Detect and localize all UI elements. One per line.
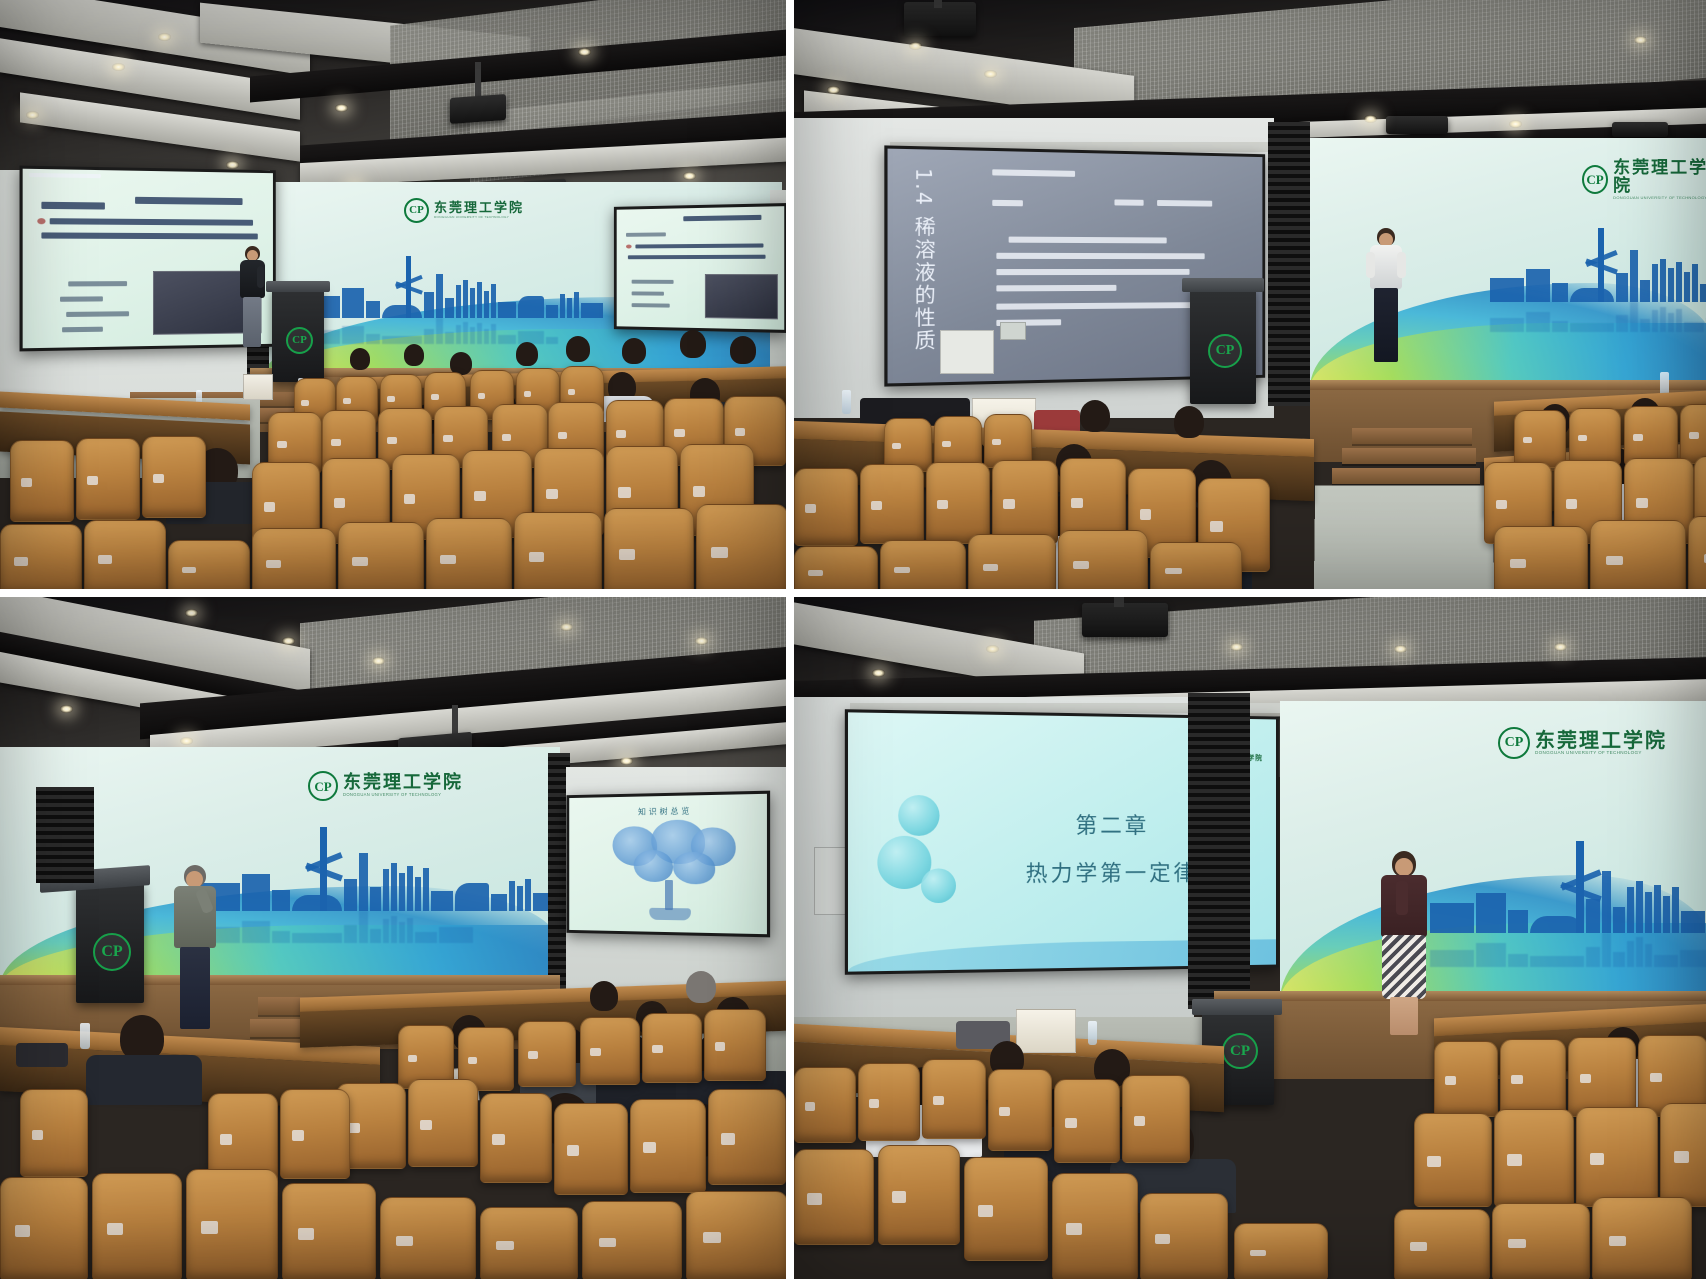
- presenter-legs: [243, 297, 261, 347]
- stage-column: [1188, 693, 1250, 1009]
- podium-seal-icon: CP: [286, 327, 313, 354]
- audience-shoulders: [86, 1055, 202, 1105]
- auditorium-seat: [1500, 1039, 1566, 1117]
- slide-vertical-title: 1.4 稀溶液的性质: [909, 168, 940, 352]
- audience-head: [622, 338, 646, 364]
- auditorium-seat: [514, 512, 602, 589]
- audience-head: [350, 348, 370, 370]
- wall-university-logo: CP 东莞理工学院 DONGGUAN UNIVERSITY OF TECHNOL…: [404, 198, 524, 223]
- university-name-en: DONGGUAN UNIVERSITY OF TECHNOLOGY: [1535, 751, 1667, 756]
- audience-head: [516, 342, 538, 366]
- ceiling-downlight: [60, 705, 73, 713]
- wall-university-logo: CP 东莞理工学院 DONGGUAN UNIVERSITY OF TECHNOL…: [1582, 160, 1706, 200]
- auditorium-seat: [858, 1063, 920, 1141]
- university-name-en: DONGGUAN UNIVERSITY OF TECHNOLOGY: [1613, 196, 1706, 200]
- auditorium-seat: [1122, 1075, 1190, 1163]
- stage-edge: [1214, 991, 1706, 1001]
- ceiling-downlight: [695, 637, 708, 645]
- auditorium-seat: [282, 1183, 376, 1279]
- auditorium-seat: [1592, 1197, 1692, 1279]
- auditorium-seat: [84, 520, 166, 589]
- auditorium-seat: [1514, 410, 1566, 468]
- auditorium-seat: [794, 546, 878, 589]
- water-bottle: [1088, 1021, 1097, 1045]
- water-bottle: [842, 390, 851, 414]
- water-bottle: [80, 1023, 90, 1049]
- auditorium-seat: [922, 1059, 986, 1139]
- auditorium-seat: [518, 1021, 576, 1087]
- auditorium-seat: [988, 1069, 1052, 1151]
- stage-step: [1342, 448, 1476, 464]
- ceiling-downlight: [226, 161, 239, 169]
- podium: CP: [76, 883, 144, 1003]
- presenter-legs: [180, 947, 210, 1029]
- auditorium-seat: [426, 518, 512, 589]
- table-box: [1016, 1009, 1076, 1053]
- university-seal-icon: CP: [308, 771, 338, 801]
- auditorium-seat: [480, 1093, 552, 1183]
- audience-head: [730, 336, 756, 364]
- ceiling-downlight: [180, 737, 193, 745]
- slide-diagram: [705, 274, 778, 319]
- auditorium-seat: [1054, 1079, 1120, 1163]
- auditorium-seat: [408, 1079, 478, 1167]
- mural-skyline: [200, 853, 559, 911]
- wall-university-logo: CP 东莞理工学院 DONGGUAN UNIVERSITY OF TECHNOL…: [1498, 727, 1667, 759]
- auditorium-seat: [1660, 1103, 1706, 1207]
- podium-seal-icon: CP: [93, 933, 131, 971]
- stage-step: [1332, 468, 1480, 484]
- auditorium-seat: [1052, 1173, 1138, 1279]
- university-seal-icon: CP: [1498, 727, 1530, 759]
- slide-tree-base: [649, 908, 691, 921]
- auditorium-seat: [880, 540, 966, 589]
- photo-bottom-left: CP 东莞理工学院 DONGGUAN UNIVERSITY OF TECHNOL…: [0, 597, 786, 1279]
- ceiling-downlight: [1364, 115, 1377, 123]
- auditorium-seat: [582, 1201, 682, 1279]
- auditorium-seat: [1140, 1193, 1228, 1279]
- mural-skyline-reflection: [200, 911, 473, 943]
- auditorium-seat: [338, 522, 424, 589]
- audience-head: [566, 336, 590, 362]
- auditorium-seat: [696, 504, 786, 589]
- auditorium-seat: [926, 462, 990, 544]
- collage-gutter-horizontal: [0, 589, 1706, 597]
- photo-bottom-right: 第二章 热力学第一定律 CP 东莞理工学院 CP 东莞理工学院: [794, 597, 1706, 1279]
- side-projection-screen: [614, 203, 786, 333]
- ceiling-projector: [1386, 116, 1448, 134]
- ceiling-downlight: [26, 111, 39, 119]
- ceiling-downlight: [909, 42, 922, 50]
- ceiling-downlight: [578, 48, 591, 56]
- auditorium-seat: [580, 1017, 640, 1085]
- auditorium-seat: [1680, 404, 1706, 464]
- presenter: [1376, 851, 1432, 1037]
- projector-mount: [934, 0, 942, 8]
- ceiling-downlight: [185, 609, 198, 617]
- auditorium-seat: [480, 1207, 578, 1279]
- auditorium-seat: [168, 540, 250, 589]
- auditorium-seat: [1569, 408, 1621, 466]
- ceiling-downlight: [683, 172, 696, 180]
- side-projection-screen: 知识树总览: [566, 791, 770, 938]
- auditorium-seat: [968, 534, 1056, 589]
- ceiling-downlight: [620, 757, 633, 765]
- auditorium-seat: [0, 1177, 88, 1279]
- auditorium-seat: [642, 1013, 702, 1083]
- auditorium-seat: [992, 460, 1058, 544]
- ceiling-downlight: [1554, 643, 1567, 651]
- slide-tree-trunk: [665, 880, 673, 910]
- auditorium-seat: [380, 1197, 476, 1279]
- auditorium-seat: [1688, 516, 1706, 589]
- auditorium-seat: [1434, 1041, 1498, 1117]
- auditorium-seat: [686, 1191, 786, 1279]
- ceiling-downlight: [158, 33, 171, 41]
- audience-head: [686, 971, 716, 1003]
- ceiling-downlight: [1634, 36, 1647, 44]
- audience-head: [1080, 400, 1110, 432]
- auditorium-seat: [186, 1169, 278, 1279]
- audience-head: [680, 330, 706, 358]
- photo-collage: CP 东莞理工学院 DONGGUAN UNIVERSITY OF TECHNOL…: [0, 0, 1706, 1279]
- wall-panel: [940, 330, 994, 374]
- ceiling-downlight: [560, 623, 573, 631]
- ceiling-downlight: [335, 104, 348, 112]
- presenter-arm-microphone: [1396, 881, 1408, 915]
- presenter-arm: [1366, 252, 1375, 278]
- ceiling-downlight: [986, 645, 999, 653]
- auditorium-seat: [1494, 526, 1588, 589]
- presenter-legs: [1390, 997, 1418, 1035]
- handbag: [16, 1043, 68, 1067]
- mural-skyline: [310, 274, 603, 318]
- university-name-en: DONGGUAN UNIVERSITY OF TECHNOLOGY: [343, 793, 463, 797]
- university-name-en: DONGGUAN UNIVERSITY OF TECHNOLOGY: [434, 216, 524, 219]
- auditorium-seat: [708, 1089, 786, 1185]
- auditorium-seat: [704, 1009, 766, 1081]
- auditorium-seat: [280, 1089, 350, 1179]
- auditorium-seat: [1568, 1037, 1636, 1117]
- wall-sign: [1000, 322, 1026, 340]
- auditorium-seat: [794, 1067, 856, 1143]
- podium-top: [266, 281, 330, 292]
- ceiling-downlight: [984, 70, 997, 78]
- auditorium-seat: [794, 468, 858, 546]
- university-seal-icon: CP: [404, 198, 429, 223]
- stage-mural: CP 东莞理工学院 DONGGUAN UNIVERSITY OF TECHNOL…: [1280, 701, 1706, 1001]
- auditorium-seat: [604, 508, 694, 589]
- collage-gutter-vertical: [786, 0, 794, 1279]
- audience-head: [1174, 406, 1204, 438]
- university-seal-icon: CP: [1582, 165, 1608, 194]
- stage-edge: [1310, 380, 1706, 390]
- presenter-arm: [257, 266, 264, 288]
- stage-step: [1352, 428, 1472, 444]
- ceiling-downlight: [1394, 645, 1407, 653]
- ceiling-downlight: [872, 669, 885, 677]
- podium: CP: [272, 287, 324, 382]
- podium-seal-icon: CP: [1208, 334, 1242, 368]
- slide-molecule-graphic: [921, 868, 956, 903]
- ceiling-downlight: [1230, 643, 1243, 651]
- presenter-legs: [1374, 288, 1398, 362]
- auditorium-seat: [1492, 1203, 1590, 1279]
- ceiling-projector: [1082, 603, 1168, 637]
- auditorium-seat: [1414, 1113, 1492, 1207]
- auditorium-seat: [252, 528, 336, 589]
- auditorium-seat: [554, 1103, 628, 1195]
- auditorium-seat: [1234, 1223, 1328, 1279]
- university-name-cn: 东莞理工学院: [1613, 160, 1706, 196]
- center-aisle: [1313, 485, 1495, 589]
- projector-mount: [1114, 597, 1124, 607]
- photo-top-left: CP 东莞理工学院 DONGGUAN UNIVERSITY OF TECHNOL…: [0, 0, 786, 589]
- ceiling-projector: [1612, 122, 1668, 137]
- auditorium-seat: [76, 438, 140, 520]
- table-box: [243, 374, 273, 400]
- podium-top: [1182, 278, 1264, 292]
- auditorium-seat: [1576, 1107, 1658, 1207]
- auditorium-seat: [1150, 542, 1242, 589]
- auditorium-seat: [878, 1145, 960, 1245]
- ceiling-projector: [450, 94, 506, 124]
- podium-top: [1192, 999, 1282, 1015]
- slide-molecule-graphic: [898, 795, 939, 836]
- presenter-arm: [1397, 252, 1406, 278]
- auditorium-seat: [92, 1173, 182, 1279]
- mural-skyline: [1430, 871, 1706, 933]
- projector-mount: [475, 62, 481, 100]
- stage-column: [1268, 122, 1310, 406]
- auditorium-seat: [1624, 406, 1678, 466]
- podium-seal-icon: CP: [1222, 1033, 1258, 1069]
- auditorium-seat: [1590, 520, 1686, 589]
- wall-university-logo: CP 东莞理工学院 DONGGUAN UNIVERSITY OF TECHNOL…: [308, 771, 463, 801]
- university-name-cn: 东莞理工学院: [1535, 730, 1667, 751]
- podium-backdrop-column: [36, 787, 94, 883]
- auditorium-seat: [10, 440, 74, 522]
- mural-skyline-reflection: [1430, 933, 1706, 967]
- audience-head: [590, 981, 618, 1011]
- mural-skyline-reflection: [310, 318, 558, 344]
- slide-tree-diagram: [634, 850, 673, 882]
- presenter: [237, 246, 267, 356]
- slide-title: 知识树总览: [569, 804, 767, 818]
- ceiling-downlight: [372, 657, 385, 665]
- auditorium-seat: [964, 1157, 1048, 1261]
- photo-top-right: 1.4 稀溶液的性质 CP: [794, 0, 1706, 589]
- auditorium-seat: [20, 1089, 88, 1177]
- presenter-torso: [174, 886, 216, 948]
- presenter-skirt: [1382, 935, 1426, 999]
- ceiling-downlight: [112, 63, 125, 71]
- podium: CP: [1190, 286, 1256, 404]
- university-name-cn: 东莞理工学院: [434, 202, 524, 216]
- ceiling-downlight: [282, 637, 295, 645]
- ceiling-downlight: [1509, 120, 1522, 128]
- mural-skyline-reflection: [1490, 302, 1706, 332]
- auditorium-seat: [860, 464, 924, 544]
- auditorium-seat: [0, 524, 82, 589]
- presenter: [172, 865, 220, 1033]
- auditorium-seat: [1494, 1109, 1574, 1207]
- audience-head: [404, 344, 424, 366]
- presenter-face: [1395, 858, 1413, 876]
- ceiling-downlight: [827, 86, 840, 94]
- auditorium-seat: [630, 1099, 706, 1193]
- university-name-cn: 东莞理工学院: [343, 774, 463, 793]
- slide-tree-diagram: [673, 852, 715, 885]
- presenter: [1366, 228, 1406, 370]
- auditorium-seat: [142, 436, 206, 518]
- auditorium-seat: [794, 1149, 874, 1245]
- auditorium-seat: [1058, 530, 1148, 589]
- auditorium-seat: [1394, 1209, 1490, 1279]
